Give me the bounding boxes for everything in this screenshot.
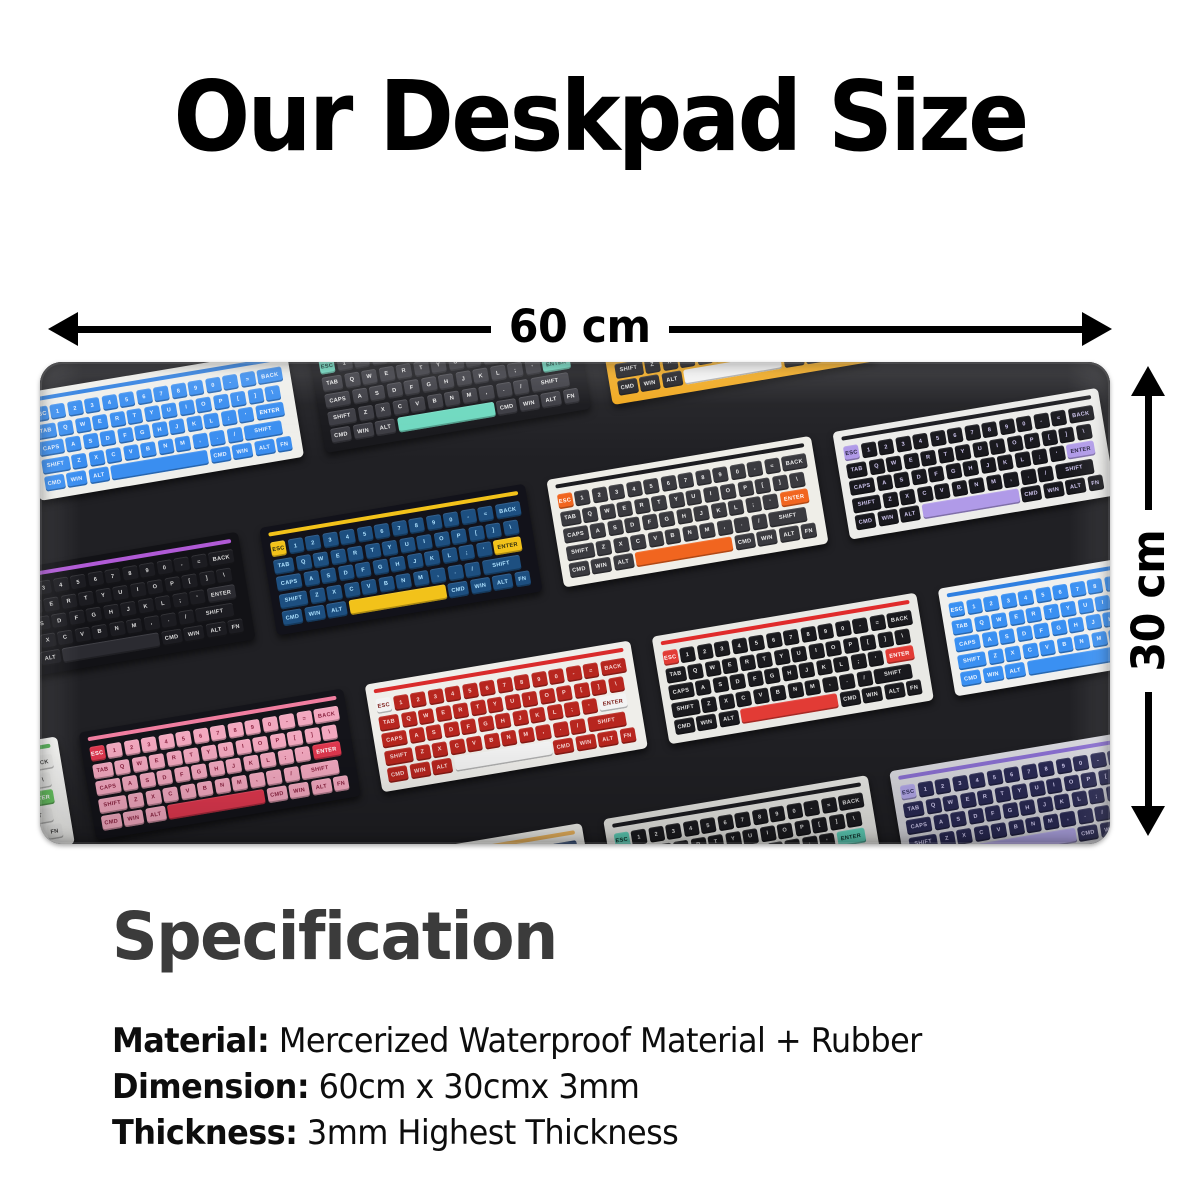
keycap: ,: [1108, 627, 1110, 644]
keyboard-red-deep: ESC1234567890-=BACKTABQWERTYUIOP[]\CAPSA…: [365, 641, 648, 793]
keycap: TAB: [846, 461, 868, 479]
keycap: [: [468, 525, 485, 542]
keycap: W: [74, 416, 91, 433]
keycap: BACK: [551, 840, 578, 844]
keycap: P: [794, 819, 811, 836]
keycap: Y: [725, 831, 742, 844]
keycap: B: [91, 623, 108, 640]
keycap: M: [412, 569, 429, 586]
keycap: TAB: [40, 422, 57, 440]
keycap: /: [569, 718, 586, 735]
keycap: -: [173, 556, 190, 573]
keycap: U: [161, 402, 178, 419]
keycap: E: [378, 365, 395, 382]
keycap: WIN: [639, 374, 661, 392]
keycap: /: [1094, 804, 1110, 821]
keycap: C: [1021, 642, 1038, 659]
keycap: B: [196, 780, 213, 797]
keycap: V: [1039, 639, 1056, 656]
keycap: V: [933, 482, 950, 499]
keycap: E: [616, 500, 633, 517]
keycap: 9: [530, 671, 547, 688]
keycap: ': [867, 650, 884, 667]
keycap: /: [283, 766, 300, 783]
keycap: 3: [951, 775, 968, 792]
keycap: /: [856, 670, 873, 687]
spec-row-dimension: Dimension: 60cm x 30cmx 3mm: [112, 1064, 1052, 1110]
keycap: V: [466, 735, 483, 752]
keycap: Z: [595, 539, 612, 556]
keycap: 9: [1104, 575, 1110, 592]
keycap: Y: [95, 587, 112, 604]
keyboard-black-rainbow: ESC1234567890-=BACKTABQWERTYUIOP[]\CAPSA…: [40, 532, 256, 684]
keycap: ': [475, 541, 492, 558]
keycap: P: [212, 393, 229, 410]
keycap: E: [43, 596, 60, 613]
keycap: P: [164, 576, 181, 593]
keycap: B: [769, 684, 786, 701]
keycap: \: [264, 384, 281, 401]
keycap: BACK: [600, 658, 627, 677]
keycap: G: [85, 606, 102, 623]
keycap: 9: [187, 379, 204, 396]
specification-heading: Specification: [112, 898, 557, 975]
keycap: N: [1073, 633, 1090, 650]
keycap: K: [767, 841, 784, 844]
keycap: 7: [782, 629, 799, 646]
keycap: ENTER: [255, 402, 285, 421]
keycap: W: [361, 368, 378, 385]
keycap: B: [140, 441, 157, 458]
keycap: 8: [513, 674, 530, 691]
keycap: Y: [668, 491, 685, 508]
keycap: G: [372, 558, 389, 575]
keycap: C: [678, 362, 695, 368]
keycap: WIN: [352, 422, 374, 440]
keycap: /: [464, 561, 481, 578]
keycap: 6: [479, 679, 496, 696]
keycap: ESC: [40, 405, 49, 422]
keycap: H: [676, 508, 693, 525]
keycap: ESC: [375, 697, 392, 714]
keycap: CAPS: [905, 816, 932, 835]
keycap: E: [1008, 609, 1025, 626]
keycap: 5: [986, 769, 1003, 786]
keycap: Z: [357, 404, 374, 421]
keycap: Y: [200, 744, 217, 761]
keycap: CMD: [1077, 824, 1099, 842]
keycap: T: [364, 542, 381, 559]
keycap: X: [1004, 645, 1021, 662]
keycap: J: [1085, 614, 1102, 631]
keycap: 7: [677, 472, 694, 489]
keycap: S: [139, 772, 156, 789]
keycap: CMD: [330, 426, 352, 444]
keycap: S: [893, 471, 910, 488]
keycap: B: [664, 527, 681, 544]
keycap: Y: [487, 696, 504, 713]
keycap: C: [916, 485, 933, 502]
keycap: K: [137, 598, 154, 615]
keycap: ALT: [718, 710, 740, 728]
keycap: [: [1097, 768, 1110, 785]
keycap: CAPS: [667, 682, 694, 701]
keycap: ;: [172, 592, 189, 609]
keycap: Z: [700, 696, 717, 713]
keycap: O: [1006, 435, 1023, 452]
keycap: 3: [608, 483, 625, 500]
keycap: C: [735, 690, 752, 707]
keycap: ENTER: [206, 584, 236, 603]
keycap: K: [186, 415, 203, 432]
keycap: K: [529, 707, 546, 724]
keycap: CAPS: [94, 778, 121, 797]
keycap: FN: [619, 727, 636, 744]
keycap: \: [845, 810, 862, 827]
keycap: BACK: [886, 610, 913, 629]
keycap: ALT: [88, 466, 110, 484]
keycap: M: [126, 617, 143, 634]
keycap: ALT: [253, 439, 275, 457]
keycap: ALT: [40, 649, 61, 667]
keyboard-collage: ESC1234567890-=BACKTABQWERTYUIOP[]\CAPSA…: [40, 362, 1110, 844]
keycap: 8: [800, 626, 817, 643]
keycap: X: [145, 789, 162, 806]
keycap: S: [998, 628, 1015, 645]
keycap: =: [582, 662, 599, 679]
keycap: TAB: [92, 761, 114, 779]
keycap: -: [1090, 752, 1107, 769]
keycap: FN: [800, 522, 817, 539]
height-dimension-arrow: 30 cm: [1120, 366, 1176, 836]
keycap: F: [641, 513, 658, 530]
keycap: T: [707, 833, 724, 844]
keycap: Q: [973, 614, 990, 631]
keycap: Q: [925, 797, 942, 814]
keycap: V: [409, 396, 426, 413]
keycap: N: [968, 476, 985, 493]
keycap: B: [426, 393, 443, 410]
keycap: E: [91, 413, 108, 430]
keyboard-grey-orange: ESC1234567890-=BACKTABQWERTYUIOP[]\CAPSA…: [546, 436, 829, 588]
keycap: .: [552, 720, 569, 737]
keycap: 2: [696, 643, 713, 660]
keycap: CAPS: [381, 730, 408, 749]
keycap: Z: [644, 362, 661, 374]
keycap: U: [685, 488, 702, 505]
keycap: [: [1041, 429, 1058, 446]
keycap: B: [1056, 636, 1073, 653]
keycap: U: [447, 362, 464, 371]
keycap: CMD: [266, 785, 288, 803]
keycap: [: [230, 390, 247, 407]
keycap: J: [1036, 796, 1053, 813]
keycap: 7: [209, 725, 226, 742]
keycap: 6: [373, 523, 390, 540]
keycap: M: [517, 726, 534, 743]
keycap: I: [235, 738, 252, 755]
keyboard-keys: ESC1234567890-=BACKTABQWERTYUIOP[]\CAPSA…: [605, 362, 868, 396]
keycap: WIN: [1042, 481, 1064, 499]
keycap: 9: [139, 562, 156, 579]
keyboard-bezel-stripe: [325, 830, 575, 844]
keycap: O: [146, 578, 163, 595]
keycap: L: [727, 499, 744, 516]
keycap: WIN: [861, 686, 883, 704]
spec-value-dimension: 60cm x 30cmx 3mm: [309, 1067, 639, 1107]
keycap: N: [443, 390, 460, 407]
keycap: C: [630, 533, 647, 550]
keycap: 4: [682, 820, 699, 837]
keycap: L: [260, 752, 277, 769]
keycap: 2: [648, 826, 665, 843]
keyboard-keys: ESC1234567890-=BACKTABQWERTYUIOP[]\CAPSA…: [375, 658, 638, 784]
keycap: X: [612, 536, 629, 553]
keycap: WIN: [469, 577, 491, 595]
keycap: G: [945, 463, 962, 480]
keycap: O: [825, 639, 842, 656]
keycap: E: [329, 548, 346, 565]
keycap: ;: [277, 749, 294, 766]
keycap: S: [369, 385, 386, 402]
keycap: CMD: [43, 474, 65, 492]
keycap: TAB: [321, 374, 343, 392]
keycap: ;: [801, 835, 818, 844]
keycap: ;: [745, 496, 762, 513]
keycap: CAPS: [562, 525, 589, 544]
keycap: 8: [408, 517, 425, 534]
keycap: ENTER: [1066, 440, 1096, 459]
keycap: R: [165, 750, 182, 767]
keycap: L: [1014, 451, 1031, 468]
keycap: 9: [712, 466, 729, 483]
keyboard-black-red-case: ESC1234567890-=BACKTABQWERTYUIOP[]\CAPSA…: [651, 593, 934, 745]
keycap: D: [386, 382, 403, 399]
keycap: ]: [1058, 426, 1075, 443]
keycap: Y: [143, 405, 160, 422]
keycap: 2: [877, 438, 894, 455]
keycap: 0: [261, 716, 278, 733]
keycap: CMD: [1020, 485, 1042, 503]
keycap: 8: [981, 421, 998, 438]
keycap: C: [343, 581, 360, 598]
keyboard-keys: ESC1234567890-=BACKTABQWERTYUIOP[]\CAPSA…: [662, 610, 925, 736]
keycap: 5: [1034, 586, 1051, 603]
keycap: Y: [1011, 783, 1028, 800]
keycap: L: [154, 595, 171, 612]
keycap: J: [455, 370, 472, 387]
keycap: ESC: [556, 492, 573, 509]
keycap: ENTER: [884, 645, 914, 664]
keycap: D: [624, 516, 641, 533]
keycap: ;: [1088, 787, 1105, 804]
keycap: 0: [442, 511, 459, 528]
keycap: 4: [1017, 589, 1034, 606]
keycap: S: [320, 567, 337, 584]
keycap: C: [105, 446, 122, 463]
keycap: /: [512, 378, 529, 395]
keycap: ;: [1031, 448, 1048, 465]
keycap: 6: [135, 388, 152, 405]
keycap: S: [40, 615, 51, 632]
spec-row-thickness: Thickness: 3mm Highest Thickness: [112, 1110, 1052, 1156]
keycap: ESC: [948, 601, 965, 618]
keycap: ,: [478, 384, 495, 401]
keycap: K: [242, 755, 259, 772]
keycap: ;: [507, 362, 524, 379]
keycap: A: [589, 522, 606, 539]
keyboard-black-purple: ESC1234567890-=BACKTABQWERTYUIOP[]\CAPSA…: [832, 388, 1110, 540]
keycap: [: [181, 573, 198, 590]
keycap: Z: [309, 587, 326, 604]
arrow-right-head-icon: [1082, 312, 1112, 346]
keycap: L: [546, 704, 563, 721]
keycap: CMD: [447, 581, 469, 599]
keycap: ALT: [540, 391, 562, 409]
keycap: CMD: [960, 669, 982, 687]
keyboard-white-green: ESC1234567890-=BACKTABQWERTYUIOP[]\CAPSA…: [40, 736, 74, 844]
keycap: =: [869, 614, 886, 631]
keycap: WIN: [982, 665, 1004, 683]
keycap: [683, 362, 782, 385]
keycap: 4: [444, 685, 461, 702]
keycap: SHIFT: [957, 651, 987, 670]
keycap: X: [374, 401, 391, 418]
keycap: TAB: [559, 509, 581, 527]
keycap: T: [469, 699, 486, 716]
keycap: WIN: [518, 394, 540, 412]
keycap: G: [420, 376, 437, 393]
keycap: V: [360, 578, 377, 595]
keycap: Q: [57, 419, 74, 436]
keycap: .: [1020, 468, 1037, 485]
keycap: 9: [998, 418, 1015, 435]
keycap: 1: [679, 646, 696, 663]
keycap: BACK: [494, 501, 521, 520]
keycap: ESC: [270, 540, 287, 557]
keycap: P: [556, 684, 573, 701]
keycap: B: [1007, 819, 1024, 836]
keycap: FN: [514, 570, 531, 587]
keycap: Q: [400, 710, 417, 727]
keycap: U: [972, 440, 989, 457]
keycap: 7: [391, 520, 408, 537]
width-dimension-arrow: 60 cm: [48, 298, 1112, 360]
keycap: \: [40, 772, 52, 789]
keycap: 6: [87, 571, 104, 588]
keycap: A: [695, 679, 712, 696]
keycap: T: [183, 747, 200, 764]
keycap: 7: [153, 385, 170, 402]
keycap: D: [910, 468, 927, 485]
keycap: ,: [429, 567, 446, 584]
keyboard-keys: ESC1234567890-=BACKTABQWERTYUIOP[]\CAPSA…: [89, 706, 352, 832]
keycap: \: [216, 567, 233, 584]
keycap: I: [759, 825, 776, 842]
spec-label-material: Material:: [112, 1021, 269, 1061]
keycap: U: [504, 693, 521, 710]
keycap: M: [461, 387, 478, 404]
keycap: 4: [731, 637, 748, 654]
keycap: I: [1046, 777, 1063, 794]
keycap: 0: [834, 620, 851, 637]
keycap: H: [1067, 616, 1084, 633]
keycap: 4: [52, 576, 69, 593]
keycap: WIN: [183, 625, 205, 643]
keycap: FN: [905, 679, 922, 696]
keycap: WIN: [66, 470, 88, 488]
keycap: ENTER: [779, 488, 809, 507]
keycap: V: [179, 783, 196, 800]
keycap: B: [483, 732, 500, 749]
keycap: 5: [929, 430, 946, 447]
keycap: ': [1105, 785, 1110, 802]
keycap: -: [803, 800, 820, 817]
keycap: F: [403, 379, 420, 396]
keycap: A: [876, 474, 893, 491]
keycap: Z: [414, 744, 431, 761]
keycap: W: [599, 503, 616, 520]
keycap: FN: [46, 823, 63, 840]
keycap: R: [347, 545, 364, 562]
keyboard-grey-mint: ESC1234567890-=BACKTABQWERTYUIOP[]\CAPSA…: [308, 362, 591, 453]
keycap: 5: [175, 730, 192, 747]
keycap: SHIFT: [614, 362, 644, 379]
keycap: 4: [339, 529, 356, 546]
keycap: 1: [574, 489, 591, 506]
spec-row-material: Material: Mercerized Waterproof Material…: [112, 1018, 1052, 1064]
keycap: H: [781, 664, 798, 681]
keycap: .: [838, 673, 855, 690]
keycap: G: [658, 511, 675, 528]
keycap: -: [565, 665, 582, 682]
keycap: 4: [101, 394, 118, 411]
keycap: R: [690, 836, 707, 844]
keycap: I: [521, 690, 538, 707]
keycap: 2: [934, 778, 951, 795]
keycap: F: [68, 609, 85, 626]
spec-label-thickness: Thickness:: [112, 1113, 297, 1153]
keycap: 5: [748, 634, 765, 651]
keycap: CMD: [568, 560, 590, 578]
keycap: 0: [1015, 415, 1032, 432]
keycap: Q: [581, 506, 598, 523]
keycap: Y: [381, 539, 398, 556]
keycap: 5: [461, 682, 478, 699]
keycap: BACK: [256, 366, 283, 385]
keycap: ESC: [662, 649, 679, 666]
keycap: =: [763, 457, 780, 474]
keycap: =: [239, 371, 256, 388]
keycap: WIN: [122, 809, 144, 827]
keycap: R: [739, 654, 756, 671]
keycap: L: [1071, 790, 1088, 807]
keycap: T: [994, 785, 1011, 802]
keycap: =: [190, 553, 207, 570]
keycap: S: [425, 724, 442, 741]
keycap: BACK: [40, 754, 54, 773]
keycap: BACK: [1067, 405, 1094, 424]
arrow-bottom-line: [1145, 692, 1152, 806]
keycap: ALT: [899, 505, 921, 523]
keycap: C: [162, 786, 179, 803]
keycap: K: [1053, 793, 1070, 810]
keycap: -: [746, 460, 763, 477]
keyboard-purple-dark: ESC1234567890-=BACKTABQWERTYUIOP[]\CAPSA…: [889, 727, 1110, 844]
keycap: F: [117, 427, 134, 444]
keycap: ESC: [843, 444, 860, 461]
keycap: X: [88, 449, 105, 466]
